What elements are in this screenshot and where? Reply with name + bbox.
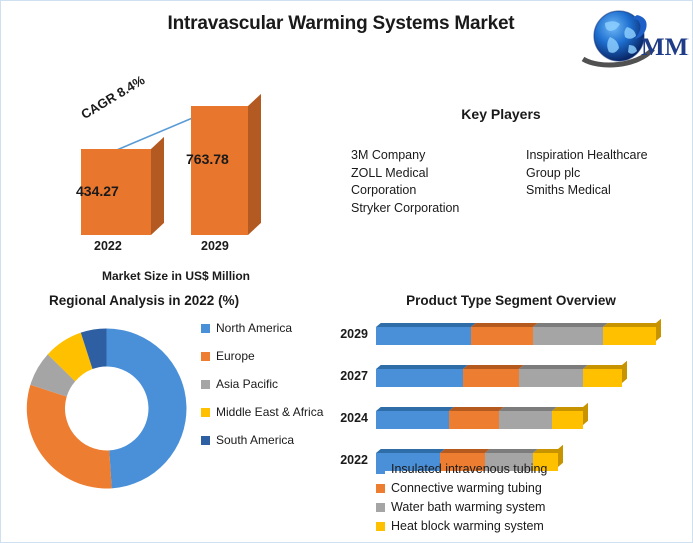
legend-item-middle-east-africa: Middle East & Africa <box>201 405 331 420</box>
stacked-seg-connective <box>449 411 499 429</box>
stacked-seg-insulated <box>376 369 463 387</box>
legend-item-south-america: South America <box>201 433 331 448</box>
legend-item-heat-block-warming-system: Heat block warming system <box>376 518 626 535</box>
market-size-column-chart: CAGR 8.4% 434.27 2022 763.78 2029 Market… <box>46 93 326 283</box>
donut-chart-title: Regional Analysis in 2022 (%) <box>49 293 239 308</box>
stacked-row-year: 2022 <box>326 449 368 471</box>
legend-item-water-bath-warming-system: Water bath warming system <box>376 499 626 516</box>
page-title: Intravascular Warming Systems Market <box>121 11 561 36</box>
regional-analysis-panel: Regional Analysis in 2022 (%) North Amer… <box>11 293 331 538</box>
legend-label: South America <box>216 433 294 448</box>
column-bar-2022 <box>81 93 151 235</box>
column-year-2029: 2029 <box>201 239 229 253</box>
stacked-row-year: 2027 <box>326 365 368 387</box>
legend-label: Heat block warming system <box>391 518 544 535</box>
legend-swatch-icon <box>376 484 385 493</box>
regional-donut-chart <box>19 321 194 496</box>
stacked-row-year: 2029 <box>326 323 368 345</box>
key-player-item: Smiths Medical <box>526 182 648 200</box>
legend-item-north-america: North America <box>201 321 331 336</box>
donut-slice-europe <box>27 385 112 489</box>
globe-swoosh-icon: MMR <box>579 7 689 69</box>
legend-swatch-icon <box>201 408 210 417</box>
legend-swatch-icon <box>376 465 385 474</box>
legend-item-insulated-intravenous-tubing: Insulated intravenous tubing <box>376 461 626 478</box>
legend-swatch-icon <box>201 324 210 333</box>
key-player-item: Inspiration Healthcare <box>526 147 648 165</box>
product-type-segment-panel: Product Type Segment Overview 2029 2027 <box>326 293 691 538</box>
stacked-row-year: 2024 <box>326 407 368 429</box>
stacked-legend: Insulated intravenous tubing Connective … <box>376 461 626 537</box>
column-value-2022: 434.27 <box>76 183 119 199</box>
stacked-seg-waterbath <box>533 327 603 345</box>
stacked-seg-insulated <box>376 327 471 345</box>
stacked-seg-heatblock <box>583 369 622 387</box>
stacked-row-2027: 2027 <box>326 365 666 387</box>
stacked-row-endcap <box>622 361 627 383</box>
legend-item-connective-warming-tubing: Connective warming tubing <box>376 480 626 497</box>
column-year-2022: 2022 <box>94 239 122 253</box>
stacked-row-track <box>376 365 622 387</box>
key-player-item: 3M Company <box>351 147 526 165</box>
legend-label: Europe <box>216 349 255 364</box>
key-player-item: Stryker Corporation <box>351 200 526 218</box>
column-value-2029: 763.78 <box>186 151 229 167</box>
legend-swatch-icon <box>376 503 385 512</box>
logo-text: MMR <box>641 34 689 61</box>
column-axis-label: Market Size in US$ Million <box>46 269 306 283</box>
stacked-seg-heatblock <box>552 411 583 429</box>
bar-side-face <box>248 94 261 235</box>
stacked-row-track <box>376 323 656 345</box>
key-player-item: ZOLL Medical <box>351 165 526 183</box>
legend-swatch-icon <box>201 436 210 445</box>
legend-swatch-icon <box>376 522 385 531</box>
stacked-seg-connective <box>463 369 519 387</box>
stacked-seg-insulated <box>376 411 449 429</box>
stacked-chart-title: Product Type Segment Overview <box>346 293 676 308</box>
stacked-seg-heatblock <box>603 327 656 345</box>
stacked-seg-connective <box>471 327 533 345</box>
legend-label: Asia Pacific <box>216 377 278 392</box>
donut-legend: North America Europe Asia Pacific Middle… <box>201 321 331 461</box>
stacked-seg-waterbath <box>519 369 583 387</box>
stacked-row-2029: 2029 <box>326 323 666 345</box>
key-players-left-column: 3M Company ZOLL Medical Corporation Stry… <box>351 147 526 217</box>
bar-side-face <box>151 137 164 235</box>
bar-front-face <box>191 106 248 235</box>
stacked-row-track <box>376 407 583 429</box>
infographic-canvas: Intravascular Warming Systems Market MMR <box>0 0 693 543</box>
legend-label: Connective warming tubing <box>391 480 542 497</box>
legend-label: Water bath warming system <box>391 499 545 516</box>
key-player-item: Corporation <box>351 182 526 200</box>
mmr-logo: MMR <box>579 7 689 69</box>
stacked-seg-waterbath <box>499 411 552 429</box>
key-players-right-column: Inspiration Healthcare Group plc Smiths … <box>526 147 648 217</box>
legend-item-asia-pacific: Asia Pacific <box>201 377 331 392</box>
key-players-panel: Key Players 3M Company ZOLL Medical Corp… <box>351 106 681 217</box>
legend-label: Middle East & Africa <box>216 405 323 420</box>
key-player-item: Group plc <box>526 165 648 183</box>
stacked-row-endcap <box>656 319 661 341</box>
legend-swatch-icon <box>201 352 210 361</box>
legend-item-europe: Europe <box>201 349 331 364</box>
legend-swatch-icon <box>201 380 210 389</box>
donut-slice-north-america <box>107 329 187 489</box>
stacked-row-endcap <box>583 403 588 425</box>
key-players-title: Key Players <box>351 106 651 122</box>
legend-label: Insulated intravenous tubing <box>391 461 547 478</box>
stacked-row-2024: 2024 <box>326 407 666 429</box>
legend-label: North America <box>216 321 292 336</box>
